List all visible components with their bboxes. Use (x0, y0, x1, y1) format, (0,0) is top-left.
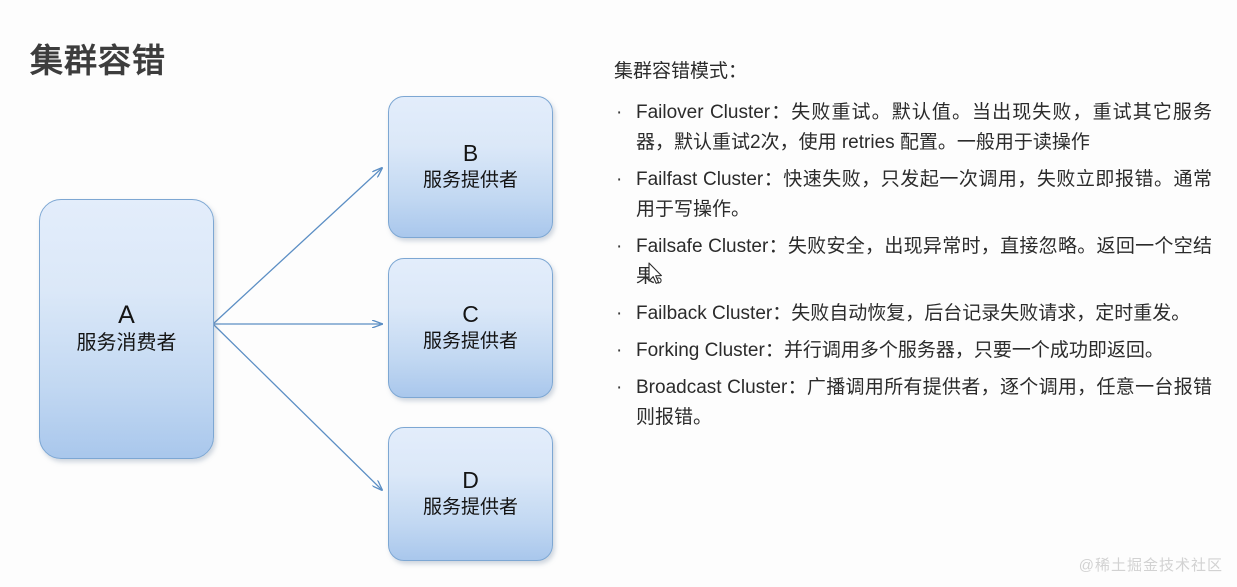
bullet-dot-icon: · (612, 373, 636, 403)
bullet-text-failfast: Failfast Cluster：快速失败，只发起一次调用，失败立即报错。通常用… (636, 165, 1212, 225)
node-c-letter: C (462, 301, 479, 327)
node-b-label: 服务提供者 (423, 168, 518, 194)
slide-canvas: 集群容错 A 服务消费者 B 服务提供者 C 服务提供者 D (0, 0, 1237, 587)
content-intro: 集群容错模式： (614, 58, 1212, 87)
diagram-node-b[interactable]: B 服务提供者 (388, 96, 553, 238)
bullet-text-broadcast: Broadcast Cluster：广播调用所有提供者，逐个调用，任意一台报错则… (636, 373, 1212, 433)
node-a-letter: A (118, 301, 135, 330)
list-item: · Broadcast Cluster：广播调用所有提供者，逐个调用，任意一台报… (612, 373, 1212, 433)
bullet-text-failsafe: Failsafe Cluster：失败安全，出现异常时，直接忽略。返回一个空结果… (636, 232, 1212, 292)
diagram-node-a[interactable]: A 服务消费者 (39, 199, 214, 459)
diagram-node-d[interactable]: D 服务提供者 (388, 427, 553, 561)
diagram-node-c[interactable]: C 服务提供者 (388, 258, 553, 398)
bullet-dot-icon: · (612, 299, 636, 329)
node-d-label: 服务提供者 (423, 495, 518, 521)
list-item: · Failsafe Cluster：失败安全，出现异常时，直接忽略。返回一个空… (612, 232, 1212, 292)
bullet-dot-icon: · (612, 165, 636, 195)
architecture-diagram: A 服务消费者 B 服务提供者 C 服务提供者 D 服务提供者 (0, 0, 600, 587)
edge-a-to-b (213, 168, 382, 324)
node-b-letter: B (463, 140, 478, 166)
bullet-dot-icon: · (612, 336, 636, 366)
list-item: · Failback Cluster：失败自动恢复，后台记录失败请求，定时重发。 (612, 299, 1212, 329)
watermark: @稀土掘金技术社区 (1079, 554, 1223, 575)
node-a-label: 服务消费者 (77, 330, 177, 357)
node-d-letter: D (462, 467, 479, 493)
bullet-text-forking: Forking Cluster：并行调用多个服务器，只要一个成功即返回。 (636, 336, 1212, 366)
content-panel: 集群容错模式： · Failover Cluster：失败重试。默认值。当出现失… (612, 58, 1212, 440)
node-c-label: 服务提供者 (423, 329, 518, 355)
bullet-dot-icon: · (612, 232, 636, 262)
list-item: · Forking Cluster：并行调用多个服务器，只要一个成功即返回。 (612, 336, 1212, 366)
bullet-dot-icon: · (612, 98, 636, 128)
bullet-text-failback: Failback Cluster：失败自动恢复，后台记录失败请求，定时重发。 (636, 299, 1212, 329)
bullet-text-failover: Failover Cluster：失败重试。默认值。当出现失败，重试其它服务器，… (636, 98, 1212, 158)
list-item: · Failfast Cluster：快速失败，只发起一次调用，失败立即报错。通… (612, 165, 1212, 225)
list-item: · Failover Cluster：失败重试。默认值。当出现失败，重试其它服务… (612, 98, 1212, 158)
edge-a-to-d (213, 324, 382, 490)
